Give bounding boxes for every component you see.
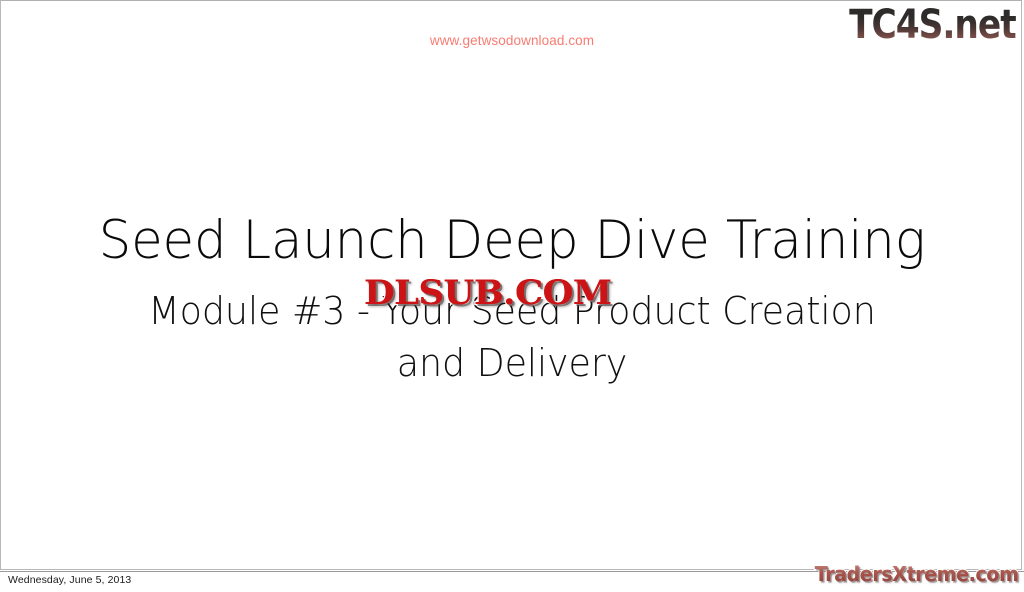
tradersxtreme-logo-fill: TradersXtreme.com — [814, 562, 1018, 586]
tc4s-net-logo-watermark: TC4S.net — [849, 2, 1016, 48]
tradersxtreme-com-logo-watermark: TradersXtreme.com TradersXtreme.com — [814, 562, 1018, 586]
footer-date: Wednesday, June 5, 2013 — [8, 574, 131, 586]
dlsub-com-watermark: DLSUB.COM DLSUB.COM — [364, 276, 612, 310]
slide-title: Seed Launch Deep Dive Training — [15, 210, 1008, 272]
slide-subtitle-line-2: and Delivery — [107, 337, 917, 389]
dlsub-watermark-fill: DLSUB.COM — [364, 276, 612, 310]
presentation-slide: www.getwsodownload.com TC4S.net Seed Lau… — [0, 0, 1024, 592]
